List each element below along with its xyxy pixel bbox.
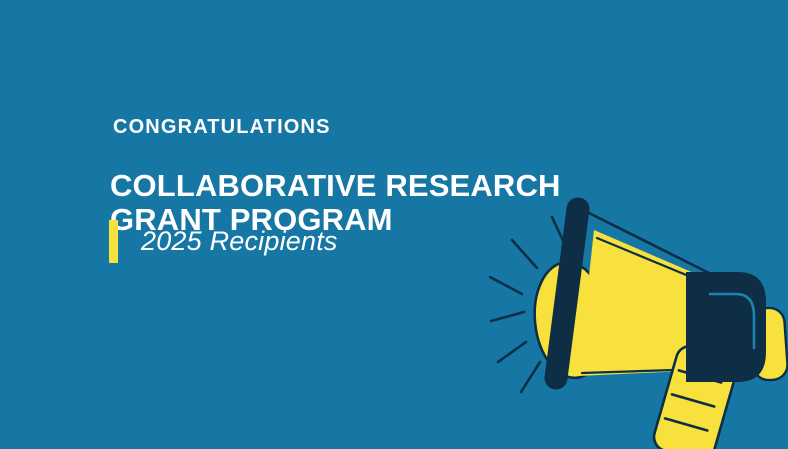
subtitle-label: 2025 Recipients [141, 226, 338, 257]
headline-line-1: COLLABORATIVE RESEARCH [110, 169, 530, 203]
eyebrow-label: CONGRATULATIONS [113, 115, 331, 139]
banner-text-block: CONGRATULATIONS COLLABORATIVE RESEARCH G… [0, 0, 520, 449]
megaphone-body-icon [686, 272, 766, 382]
congratulations-banner: CONGRATULATIONS COLLABORATIVE RESEARCH G… [0, 0, 788, 449]
accent-bar [109, 220, 118, 263]
megaphone-illustration [470, 190, 788, 449]
subtitle-row: 2025 Recipients [109, 219, 338, 263]
